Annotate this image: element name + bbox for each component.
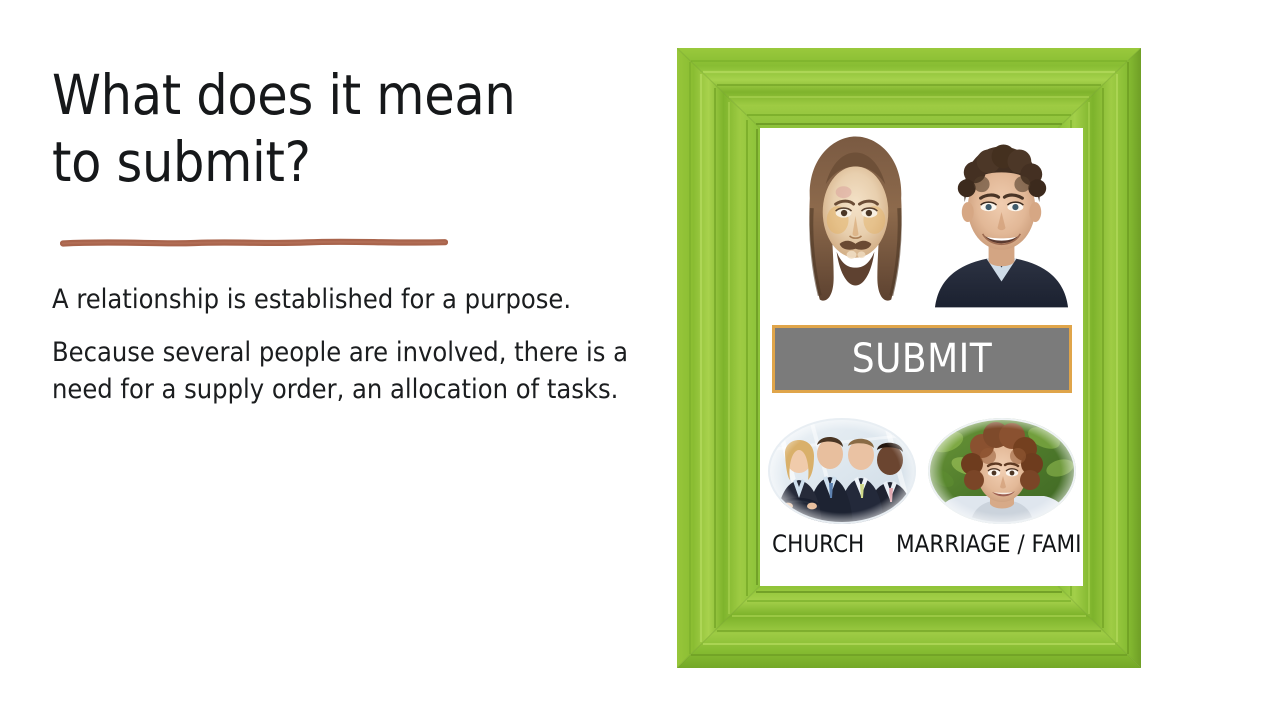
body-text-block: A relationship is established for a purp… <box>52 282 672 408</box>
oval-photo-row <box>766 416 1078 528</box>
slide-canvas: What does it mean to submit? A relations… <box>0 0 1280 720</box>
title-divider <box>60 234 448 260</box>
man-photo-portrait <box>929 128 1074 308</box>
submit-label: SUBMIT <box>852 339 993 379</box>
green-picture-frame: SUBMIT <box>677 48 1141 668</box>
caption-church: CHURCH <box>772 532 864 556</box>
page-title: What does it mean to submit? <box>52 62 662 196</box>
church-group-photo-graphic <box>766 416 918 526</box>
jesus-watercolor-portrait <box>782 128 929 308</box>
oval-caption-row: CHURCH MARRIAGE / FAMILY <box>760 532 1083 566</box>
caption-marriage-family: MARRIAGE / FAMILY <box>896 532 1083 556</box>
man-portrait-graphic <box>929 128 1074 308</box>
marriage-family-photo-graphic <box>926 416 1078 526</box>
portrait-row <box>782 128 1074 308</box>
text-column: What does it mean to submit? A relations… <box>52 62 662 424</box>
divider-squiggle-icon <box>60 234 448 250</box>
church-group-photo <box>766 416 918 526</box>
body-line-2: Because several people are involved, the… <box>52 335 672 408</box>
jesus-portrait-graphic <box>782 128 929 308</box>
frame-matte: SUBMIT <box>760 128 1083 586</box>
body-line-1: A relationship is established for a purp… <box>52 282 672 319</box>
marriage-family-photo <box>926 416 1078 526</box>
submit-banner[interactable]: SUBMIT <box>772 325 1072 393</box>
